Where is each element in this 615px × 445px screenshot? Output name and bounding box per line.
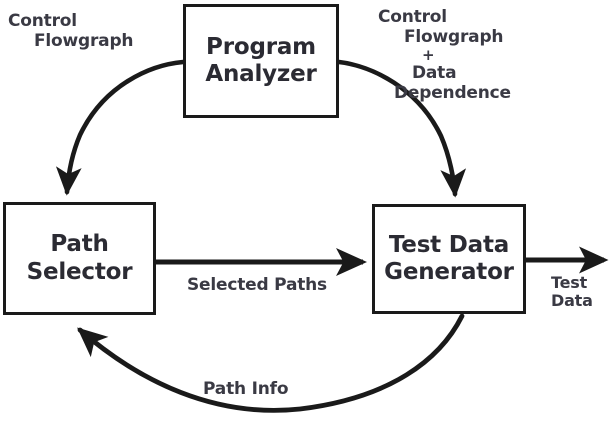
edge-label-test-data-line-2: Data xyxy=(551,292,593,310)
node-path-selector-line-1: Path xyxy=(50,231,108,258)
edge-analyzer-to-path-selector xyxy=(67,62,183,192)
edge-label-control-flowgraph-data-dependence: Control Flowgraph + Data Dependence xyxy=(378,8,511,103)
edge-label-cfg-dd-plus: + xyxy=(378,47,511,64)
node-test-data-generator-line-2: Generator xyxy=(384,259,514,286)
edge-label-control-flowgraph-left-line-1: Control xyxy=(8,12,133,32)
edge-label-control-flowgraph-left-line-2: Flowgraph xyxy=(8,32,133,52)
edge-label-control-flowgraph-left: Control Flowgraph xyxy=(8,12,133,51)
node-path-selector[interactable]: Path Selector xyxy=(3,202,156,315)
edge-label-cfg-dd-line-5: Dependence xyxy=(378,84,511,104)
node-path-selector-line-2: Selector xyxy=(27,259,133,286)
node-program-analyzer-line-1: Program xyxy=(206,34,316,61)
edge-label-cfg-dd-line-1: Control xyxy=(378,8,511,28)
node-test-data-generator[interactable]: Test Data Generator xyxy=(372,204,526,314)
edge-label-selected-paths: Selected Paths xyxy=(187,276,327,296)
edge-label-test-data-line-1: Test xyxy=(551,274,593,292)
node-program-analyzer[interactable]: Program Analyzer xyxy=(183,4,339,118)
edge-label-test-data: Test Data xyxy=(551,274,593,311)
node-test-data-generator-line-1: Test Data xyxy=(389,232,509,259)
node-program-analyzer-line-2: Analyzer xyxy=(205,61,316,88)
edge-label-cfg-dd-line-2: Flowgraph xyxy=(378,28,511,48)
edge-label-cfg-dd-line-4: Data xyxy=(378,64,511,84)
edge-label-path-info: Path Info xyxy=(203,380,288,400)
diagram-canvas: Program Analyzer Path Selector Test Data… xyxy=(0,0,615,445)
